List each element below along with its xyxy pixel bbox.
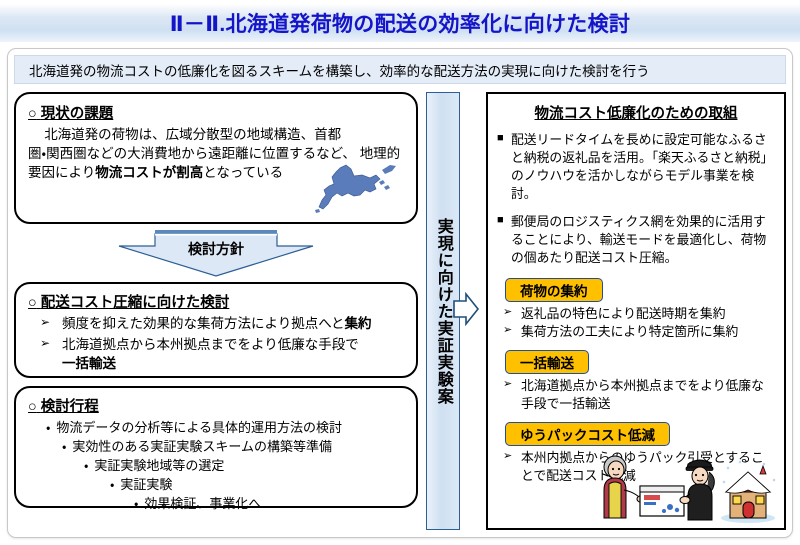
circle-marker-icon: ○: [28, 106, 37, 122]
schedule-heading: ○ 検討行程: [28, 395, 404, 416]
arrow-bullet-icon: ➢: [503, 323, 512, 338]
arrow-bullet-icon: ➢: [40, 314, 50, 331]
badge-consolidation: 荷物の集約: [505, 278, 603, 302]
slide-title-band: Ⅱ－Ⅱ.北海道発荷物の配送の効率化に向けた検討: [0, 4, 800, 42]
badge-bulk-transport: 一括輸送: [505, 350, 589, 374]
vertical-column-label: 実現に向けた実証実験案: [433, 218, 453, 405]
plan-item-1-emphasis: 集約: [345, 316, 372, 331]
list-item: ・実効性のある実証実験スキームの構築等準備: [28, 437, 404, 456]
schedule-item-3-text: 実証実験地域等の選定: [94, 458, 224, 473]
plan-heading: ○ 配送コスト圧縮に向けた検討: [28, 291, 404, 312]
current-issue-heading: ○ 現状の課題: [28, 102, 404, 123]
snowy-house-illustration: [721, 461, 775, 523]
badge-yupack-cost-reduction: ゆうパックコスト低減: [505, 422, 670, 446]
measures-panel: 物流コスト低廉化のための取組 ■ 配送リードタイムを長めに設定可能なふるさと納税…: [486, 92, 786, 530]
page-title: Ⅱ－Ⅱ.北海道発荷物の配送の効率化に向けた検討: [170, 8, 630, 38]
plan-list: ➢ 頻度を抑えた効果的な集荷方法により拠点へと集約 ➢ 北海道拠点から本州拠点ま…: [28, 314, 404, 374]
list-item: ➢ 返礼品の特色により配送時期を集約: [497, 305, 775, 323]
dot-bullet-icon: ・: [134, 496, 138, 511]
hokkaido-map-icon: [310, 162, 402, 216]
issue-line-2: 圏・関西圏などの大消費地から遠距離に位置するなど、: [28, 146, 356, 161]
delivery-cost-plan-box: ○ 配送コスト圧縮に向けた検討 ➢ 頻度を抑えた効果的な集荷方法により拠点へと集…: [14, 282, 418, 378]
plan-item-2-emphasis: 一括輸送: [62, 356, 116, 371]
measure-paragraph-1: ■ 配送リードタイムを長めに設定可能なふるさと納税の返礼品を活用。「楽天ふるさと…: [497, 131, 775, 204]
list-item: ➢ 北海道拠点から本州拠点までをより低廉な手段で 一括輸送: [28, 335, 404, 374]
list-item: ➢ 頻度を抑えた効果的な集荷方法により拠点へと集約: [28, 314, 404, 334]
dot-bullet-icon: ・: [110, 477, 114, 492]
list-item: ・物流データの分析等による具体的運用方法の検討: [28, 418, 404, 437]
policy-arrow-label: 検討方針: [14, 239, 418, 259]
schedule-item-4-text: 実証実験: [120, 477, 172, 492]
measure-paragraph-2: ■ 郵便局のロジスティクス網を効果的に活用することにより、輸送モードを最適化し、…: [497, 213, 775, 267]
issue-line-1: 北海道発の荷物は、広域分散型の地域構造、首都: [28, 125, 404, 144]
schedule-item-5-text: 効果検証、事業化へ: [144, 496, 261, 511]
current-issue-box: ○ 現状の課題 北海道発の荷物は、広域分散型の地域構造、首都 圏・関西圏などの大…: [14, 92, 418, 224]
parcel-box: [640, 486, 684, 516]
measure-paragraph-1-text: 配送リードタイムを長めに設定可能なふるさと納税の返礼品を活用。「楽天ふるさと納税…: [511, 132, 773, 201]
schedule-heading-text: 検討行程: [41, 399, 99, 415]
current-issue-heading-text: 現状の課題: [41, 106, 114, 122]
measure-paragraph-2-text: 郵便局のロジスティクス網を効果的に活用することにより、輸送モードを最適化し、荷物…: [511, 214, 766, 265]
circle-marker-icon: ○: [28, 399, 37, 415]
circle-marker-icon: ○: [28, 295, 37, 311]
schedule-list: ・物流データの分析等による具体的運用方法の検討 ・実効性のある実証実験スキームの…: [28, 418, 404, 514]
list-item: ・効果検証、事業化へ: [28, 494, 404, 513]
courier-figure: [680, 460, 714, 520]
arrow-bullet-icon: ➢: [503, 449, 512, 464]
list-item: ・実証実験地域等の選定: [28, 456, 404, 475]
plan-item-2-text: 北海道拠点から本州拠点までをより低廉な手段で: [62, 337, 359, 352]
policy-arrow-block: 検討方針: [14, 230, 418, 280]
square-bullet-icon: ■: [497, 131, 504, 147]
plan-heading-text: 配送コスト圧縮に向けた検討: [41, 295, 230, 311]
slide-root: Ⅱ－Ⅱ.北海道発荷物の配送の効率化に向けた検討 北海道発の物流コストの低廉化を図…: [0, 0, 800, 545]
right-arrow-icon: [452, 292, 480, 326]
section-2-list: ➢ 北海道拠点から本州拠点までをより低廉な手段で一括輸送: [497, 377, 775, 413]
dot-bullet-icon: ・: [62, 439, 66, 454]
subheader-text: 北海道発の物流コストの低廉化を図るスキームを構築し、効率的な配送方法の実現に向け…: [29, 60, 650, 80]
issue-line-3c: となっている: [203, 165, 283, 180]
schedule-item-2-text: 実効性のある実証実験スキームの構築等準備: [72, 439, 332, 454]
dot-bullet-icon: ・: [84, 458, 88, 473]
arrow-bullet-icon: ➢: [40, 335, 50, 352]
list-item: ➢ 北海道拠点から本州拠点までをより低廉な手段で一括輸送: [497, 377, 775, 413]
square-bullet-icon: ■: [497, 213, 504, 229]
arrow-bullet-icon: ➢: [503, 305, 512, 320]
dot-bullet-icon: ・: [46, 420, 50, 435]
schedule-box: ○ 検討行程 ・物流データの分析等による具体的運用方法の検討 ・実効性のある実証…: [14, 386, 418, 508]
list-item: ・実証実験: [28, 475, 404, 494]
measures-panel-title: 物流コスト低廉化のための取組: [497, 102, 775, 123]
section-2-item-1-text: 北海道拠点から本州拠点までをより低廉な手段で一括輸送: [521, 378, 764, 411]
section-1-list: ➢ 返礼品の特色により配送時期を集約 ➢ 集荷方法の工夫により特定箇所に集約: [497, 305, 775, 341]
plan-item-1-text: 頻度を抑えた効果的な集荷方法により拠点へと: [62, 316, 345, 331]
delivery-handover-illustration: [588, 450, 778, 524]
left-column: ○ 現状の課題 北海道発の荷物は、広域分散型の地域構造、首都 圏・関西圏などの大…: [14, 92, 418, 508]
list-item: ➢ 集荷方法の工夫により特定箇所に集約: [497, 323, 775, 341]
section-1-item-1-text: 返礼品の特色により配送時期を集約: [521, 306, 726, 321]
schedule-item-1-text: 物流データの分析等による具体的運用方法の検討: [56, 420, 342, 435]
section-1-item-2-text: 集荷方法の工夫により特定箇所に集約: [521, 324, 738, 339]
arrow-bullet-icon: ➢: [503, 377, 512, 392]
subheader-banner: 北海道発の物流コストの低廉化を図るスキームを構築し、効率的な配送方法の実現に向け…: [14, 55, 786, 84]
issue-line-3-emphasis: 物流コストが割高: [95, 165, 203, 180]
